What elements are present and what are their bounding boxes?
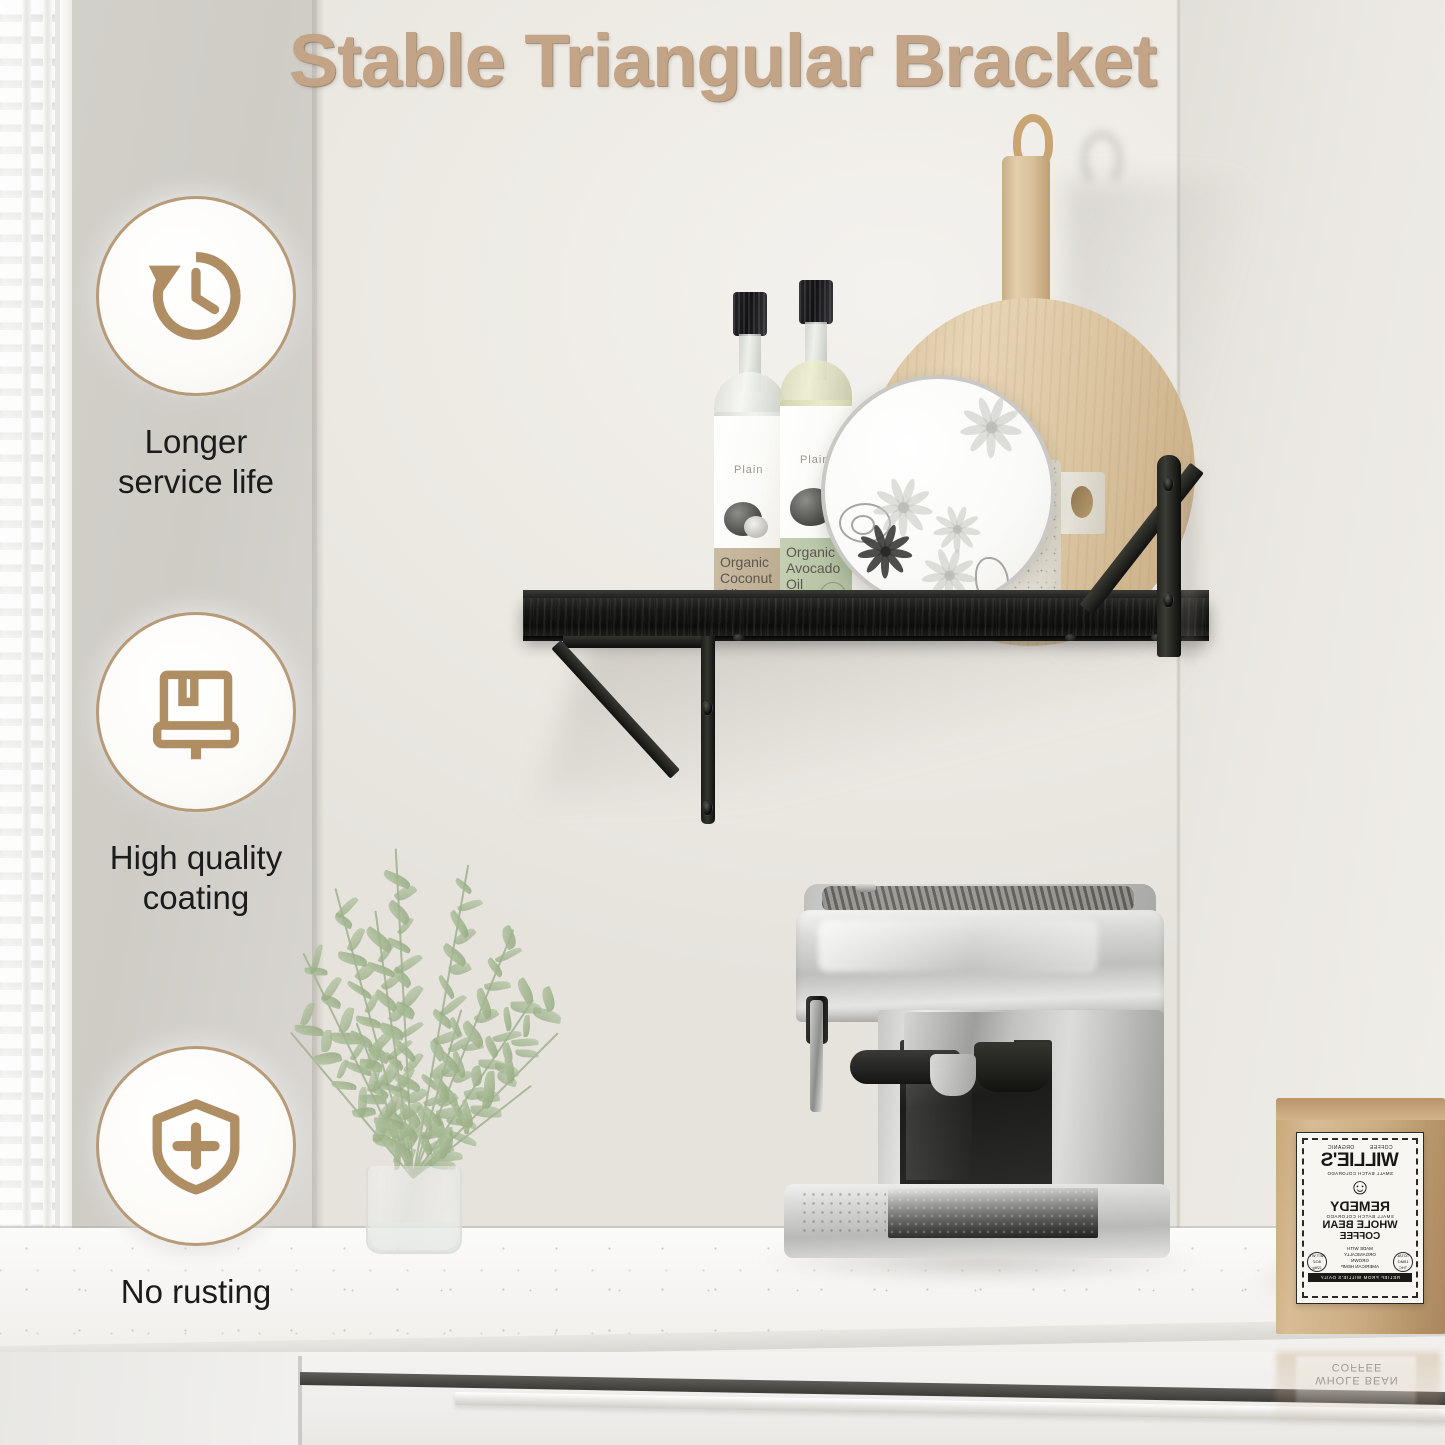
coffee-bag-reflection-text: WHOLE BEAN COFFEE: [1299, 1360, 1415, 1386]
shelf-board: [523, 598, 1209, 638]
mug-handle-hole: [1071, 486, 1093, 518]
feature-high-quality-coating: High quality coating: [72, 612, 320, 918]
history-clock-icon: [142, 242, 250, 350]
cocktail-glass-icon: ☺: [1308, 1176, 1412, 1198]
page-title: Stable Triangular Bracket: [0, 18, 1445, 103]
bottle-label: Plain: [714, 416, 786, 556]
feature-label-line2: coating: [72, 878, 320, 918]
feature-label-line1: High quality: [72, 838, 320, 878]
label-badge-thc: TOTAL 15MG THC: [1393, 1252, 1413, 1272]
bracket-left-screw-hole-1: [702, 700, 713, 716]
label-product-line2: WHOLE BEAN: [1308, 1219, 1412, 1231]
plate-swirl-small: [851, 515, 875, 535]
window-mullion-a: [22, 0, 31, 1300]
machine-control-knob[interactable]: [856, 884, 876, 892]
portafilter-ears: [974, 1042, 1052, 1092]
feature-label-line2: service life: [72, 462, 320, 502]
window-mullion-b: [43, 0, 52, 1300]
feature-label-line1: Longer: [72, 422, 320, 462]
coffee-bag: COFFEE ORGANIC WILLIE'S SMALL BATCH COLO…: [1276, 1098, 1445, 1334]
espresso-machine: [778, 884, 1178, 1282]
decorative-plate: [821, 375, 1055, 609]
feature-badge-circle: [96, 196, 296, 396]
shelf-screw-3: [1065, 634, 1076, 641]
portafilter-basket: [930, 1054, 976, 1096]
shelf-screw-1: [733, 634, 744, 641]
feature-label: No rusting: [72, 1272, 320, 1312]
label-bottom-strip: RELIEF FROM WILLIE'S DAILY: [1308, 1273, 1412, 1282]
feature-longer-service-life: Longer service life: [72, 196, 320, 502]
label-product-name: REMEDY: [1308, 1198, 1412, 1214]
cabinet-gap: [298, 1356, 302, 1445]
feature-label: High quality coating: [72, 838, 320, 918]
feature-no-rusting: No rusting: [72, 1046, 320, 1312]
bottle-cap: [733, 292, 767, 336]
feature-badge-circle: [96, 612, 296, 812]
coconut-flesh: [744, 516, 768, 538]
feature-badge-circle: [96, 1046, 296, 1246]
machine-head-sheen: [818, 920, 1098, 972]
label-brand: WILLIE'S: [1308, 1151, 1412, 1171]
bracket-left-top-arm: [563, 636, 715, 648]
bracket-left-screw-hole-2: [702, 800, 713, 816]
floating-wall-shelf: Plain Organic Coconut Oil First Cold Pre…: [505, 120, 1225, 830]
feature-label: Longer service life: [72, 422, 320, 502]
bracket-right-screw-hole-1: [1163, 476, 1174, 492]
coffee-bag-label: COFFEE ORGANIC WILLIE'S SMALL BATCH COLO…: [1296, 1132, 1424, 1304]
bracket-left-wall-plate: [701, 636, 715, 824]
paint-brush-icon: [142, 658, 250, 766]
product-marketing-image: Stable Triangular Bracket Longer service…: [0, 0, 1445, 1445]
drip-tray-grate: [888, 1188, 1098, 1238]
cutting-board-handle: [1002, 156, 1050, 314]
bottle-cap: [799, 280, 833, 324]
label-product-line3: COFFEE: [1308, 1231, 1412, 1242]
drip-tray-perforation: [800, 1190, 886, 1234]
loop-shadow: [1080, 130, 1124, 190]
label-badge-weight: NET WT 8OZ 226g: [1307, 1252, 1327, 1272]
plant-leaf: [516, 1049, 539, 1057]
cabinet-left-panel: [0, 1352, 300, 1445]
feature-label-line1: No rusting: [72, 1272, 320, 1312]
bracket-right-screw-hole-2: [1163, 592, 1174, 608]
shield-plus-icon: [142, 1092, 250, 1200]
steam-wand[interactable]: [810, 1000, 823, 1112]
vase-water: [371, 1222, 457, 1250]
coffee-bag-top-fold: [1276, 1098, 1445, 1120]
